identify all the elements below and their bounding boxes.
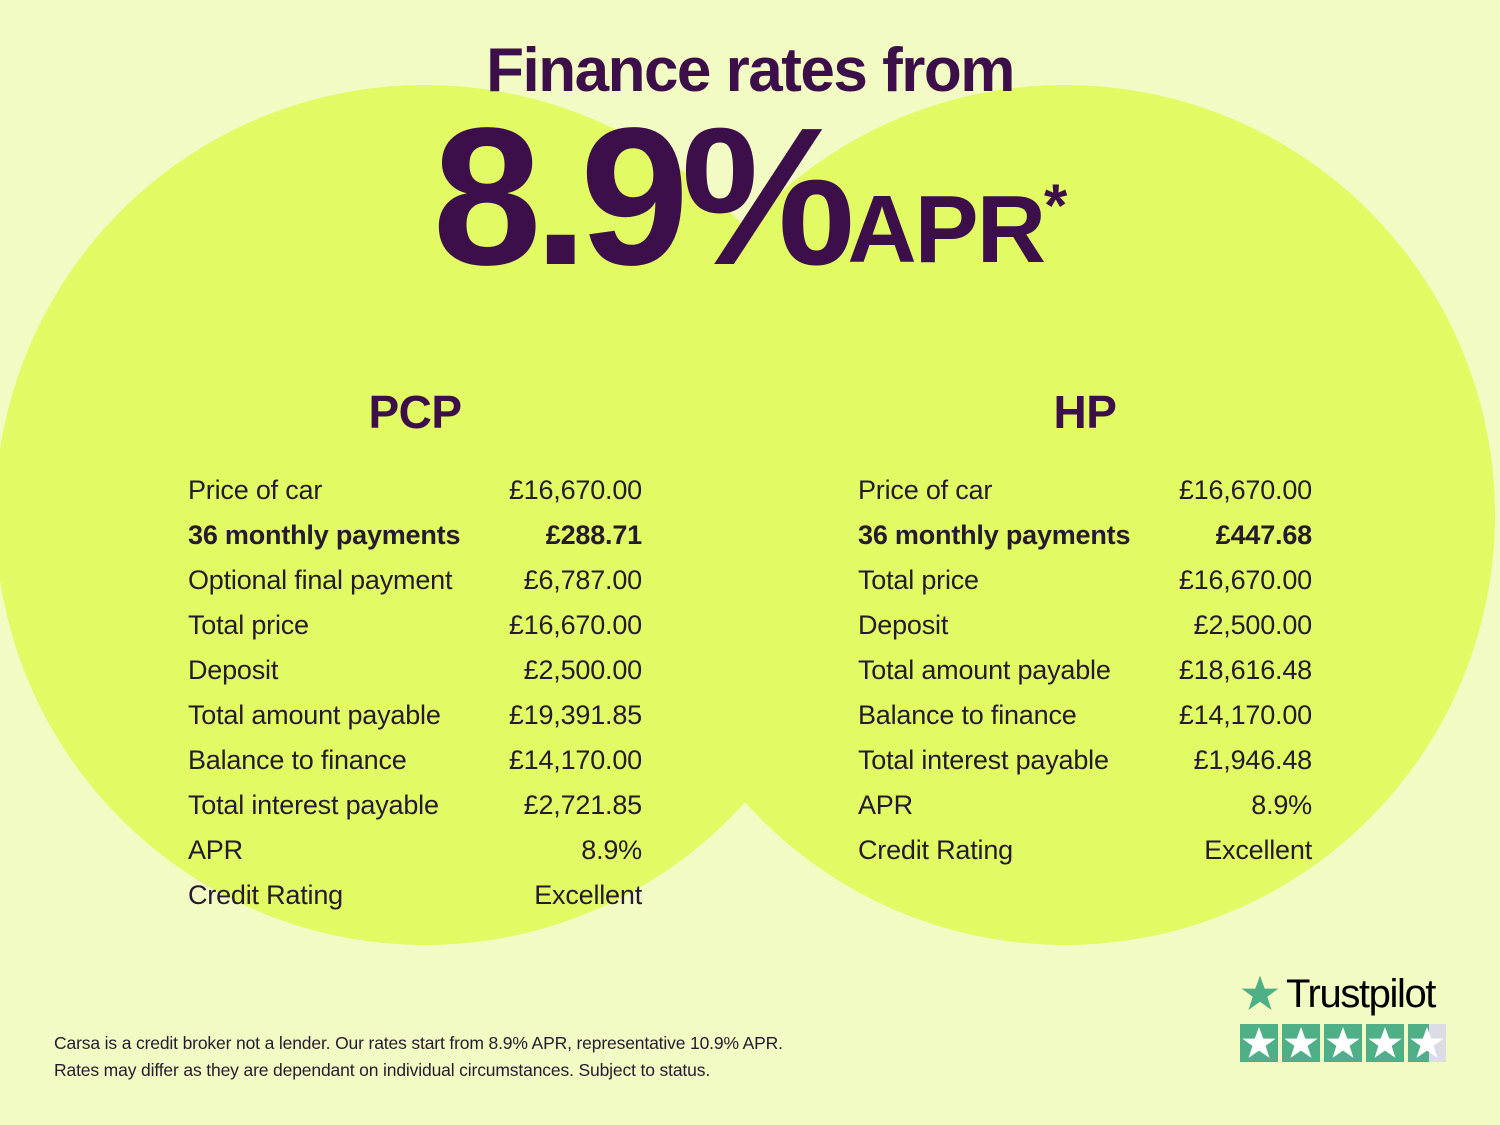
disclaimer-line-2: Rates may differ as they are dependant o… [54,1057,854,1084]
row-value: £2,500.00 [524,655,642,686]
poster-canvas: Finance rates from 8.9% APR * PCP Price … [0,0,1500,1125]
star-icon [1240,1024,1278,1062]
table-row: APR 8.9% [830,790,1340,835]
trustpilot-star-box [1366,1024,1404,1062]
apr-label: APR [847,182,1044,278]
asterisk-marker: * [1044,176,1067,236]
trustpilot-widget[interactable]: Trustpilot [1240,972,1452,1062]
row-value: £16,670.00 [509,610,642,641]
row-value: £19,391.85 [509,700,642,731]
row-label: Total amount payable [858,655,1111,686]
table-row: Total interest payable £1,946.48 [830,745,1340,790]
plan-hp-title: HP [830,385,1340,439]
trustpilot-star-box [1282,1024,1320,1062]
table-row: Deposit £2,500.00 [160,655,670,700]
row-label: Price of car [858,475,992,506]
table-row: Optional final payment £6,787.00 [160,565,670,610]
row-label: Balance to finance [188,745,407,776]
row-label: 36 monthly payments [858,520,1130,551]
row-value: £18,616.48 [1179,655,1312,686]
row-value: 8.9% [581,835,642,866]
row-label: Total interest payable [858,745,1109,776]
table-row: Total amount payable £19,391.85 [160,700,670,745]
row-label: Credit Rating [858,835,1013,866]
row-label: Deposit [858,610,948,641]
row-label: Total price [188,610,309,641]
row-value: £14,170.00 [509,745,642,776]
row-value: £1,946.48 [1194,745,1312,776]
row-label: APR [858,790,913,821]
row-value: £16,670.00 [509,475,642,506]
plan-pcp-rows: Price of car £16,670.00 36 monthly payme… [160,475,670,925]
table-row: Balance to finance £14,170.00 [830,700,1340,745]
row-label: Total amount payable [188,700,441,731]
star-icon [1324,1024,1362,1062]
star-icon [1408,1024,1446,1062]
star-icon [1282,1024,1320,1062]
disclaimer-line-1: Carsa is a credit broker not a lender. O… [54,1030,854,1057]
table-row: 36 monthly payments £288.71 [160,520,670,565]
row-value: Excellent [1204,835,1312,866]
headline-rate-row: 8.9% APR * [0,111,1500,283]
row-label: Price of car [188,475,322,506]
row-value: £288.71 [546,520,642,551]
poster-content: Finance rates from 8.9% APR * PCP Price … [0,0,1500,1125]
row-value: £16,670.00 [1179,475,1312,506]
table-row: Deposit £2,500.00 [830,610,1340,655]
table-row: Total interest payable £2,721.85 [160,790,670,835]
row-label: Total interest payable [188,790,439,821]
row-value: £2,500.00 [1194,610,1312,641]
table-row: Total price £16,670.00 [830,565,1340,610]
row-value: £2,721.85 [524,790,642,821]
table-row: Credit Rating Excellent [830,835,1340,880]
row-value: £447.68 [1216,520,1312,551]
row-label: Optional final payment [188,565,452,596]
table-row: 36 monthly payments £447.68 [830,520,1340,565]
apr-label-wrap: APR * [847,182,1067,278]
trustpilot-star-icon [1240,974,1280,1014]
row-value: Excellent [534,880,642,911]
finance-tables: PCP Price of car £16,670.00 36 monthly p… [0,385,1500,925]
trustpilot-star-box [1324,1024,1362,1062]
row-label: Deposit [188,655,278,686]
plan-hp: HP Price of car £16,670.00 36 monthly pa… [830,385,1340,925]
row-label: Credit Rating [188,880,343,911]
plan-pcp: PCP Price of car £16,670.00 36 monthly p… [160,385,670,925]
trustpilot-wordmark: Trustpilot [1286,974,1435,1014]
table-row: Credit Rating Excellent [160,880,670,925]
disclaimer-text: Carsa is a credit broker not a lender. O… [54,1030,854,1084]
row-value: £6,787.00 [524,565,642,596]
row-value: 8.9% [1251,790,1312,821]
plan-hp-rows: Price of car £16,670.00 36 monthly payme… [830,475,1340,880]
table-row: Price of car £16,670.00 [160,475,670,520]
plan-pcp-title: PCP [160,385,670,439]
apr-rate-value: 8.9% [433,111,848,283]
trustpilot-star-box [1408,1024,1446,1062]
table-row: Price of car £16,670.00 [830,475,1340,520]
table-row: Balance to finance £14,170.00 [160,745,670,790]
table-row: Total price £16,670.00 [160,610,670,655]
table-row: APR 8.9% [160,835,670,880]
trustpilot-rating-stars [1240,1024,1452,1062]
table-row: Total amount payable £18,616.48 [830,655,1340,700]
trustpilot-logo: Trustpilot [1240,972,1452,1016]
row-value: £14,170.00 [1179,700,1312,731]
row-label: Total price [858,565,979,596]
star-icon [1366,1024,1404,1062]
headline-block: Finance rates from 8.9% APR * [0,38,1500,284]
row-label: APR [188,835,243,866]
row-label: 36 monthly payments [188,520,460,551]
row-value: £16,670.00 [1179,565,1312,596]
row-label: Balance to finance [858,700,1077,731]
trustpilot-star-box [1240,1024,1278,1062]
